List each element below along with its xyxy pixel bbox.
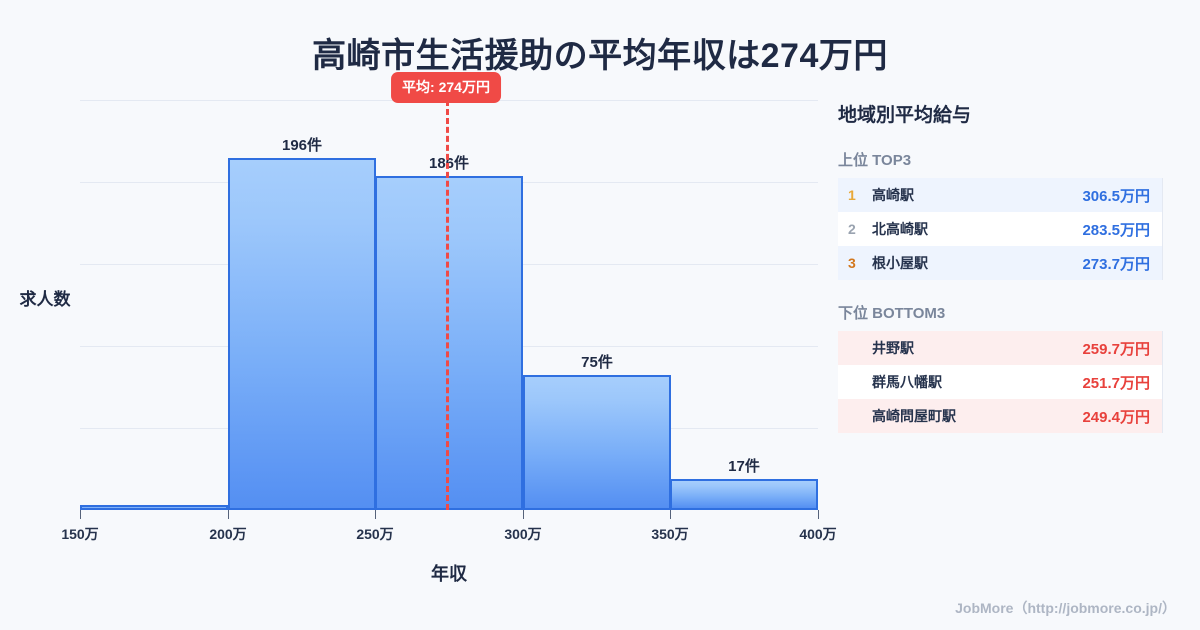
bar [80,505,228,510]
bar-value-label: 196件 [228,134,376,155]
page-title: 高崎市生活援助の平均年収は274万円 [0,28,1200,77]
x-tick [375,510,376,519]
salary-value: 306.5万円 [1082,185,1150,206]
x-axis-title: 年収 [80,560,818,586]
top3-row[interactable]: 2北高崎駅283.5万円 [838,212,1162,246]
x-tick [80,510,81,519]
average-line [446,100,449,510]
bar-value-label: 186件 [375,152,523,173]
station-name: 群馬八幡駅 [868,372,1082,392]
x-tick-label: 300万 [504,524,541,544]
station-name: 北高崎駅 [868,219,1082,239]
salary-value: 283.5万円 [1082,219,1150,240]
rank-number: 3 [848,255,868,271]
station-name: 井野駅 [868,338,1082,358]
station-name: 根小屋駅 [868,253,1082,273]
bar-value-label: 17件 [670,455,818,476]
bottom-group-label: 下位 BOTTOM3 [838,302,1163,323]
footer-watermark: JobMore（http://jobmore.co.jp/） [955,598,1176,618]
infographic-page: 高崎市生活援助の平均年収は274万円 求人数 196件186件75件17件 平均… [0,0,1200,630]
bar-series: 196件186件75件17件 [80,100,818,510]
x-tick-label: 350万 [651,524,688,544]
bar [228,158,376,510]
bar [523,375,671,510]
bottom3-row[interactable]: 井野駅259.7万円 [838,331,1162,365]
rank-number: 2 [848,221,868,237]
x-tick-label: 400万 [799,524,836,544]
x-tick [818,510,819,519]
salary-value: 249.4万円 [1082,406,1150,427]
rank-number: 1 [848,187,868,203]
salary-value: 251.7万円 [1082,372,1150,393]
x-tick [670,510,671,519]
top3-row[interactable]: 1高崎駅306.5万円 [838,178,1162,212]
top3-row[interactable]: 3根小屋駅273.7万円 [838,246,1162,280]
histogram-chart: 求人数 196件186件75件17件 平均: 274万円 150万200万250… [0,90,830,610]
bottom3-row[interactable]: 群馬八幡駅251.7万円 [838,365,1162,399]
x-tick-label: 250万 [356,524,393,544]
x-tick-label: 200万 [209,524,246,544]
sidebar-title: 地域別平均給与 [838,100,1163,127]
top3-list: 1高崎駅306.5万円2北高崎駅283.5万円3根小屋駅273.7万円 [838,178,1163,280]
bar [375,176,523,510]
x-tick [523,510,524,519]
top-group-label: 上位 TOP3 [838,149,1163,170]
station-name: 高崎問屋町駅 [868,406,1082,426]
bar-value-label: 75件 [523,351,671,372]
salary-value: 259.7万円 [1082,338,1150,359]
x-tick-label: 150万 [61,524,98,544]
x-tick [228,510,229,519]
plot-area: 196件186件75件17件 平均: 274万円 150万200万250万300… [80,100,818,510]
y-axis-title: 求人数 [10,285,80,310]
bottom3-row[interactable]: 高崎問屋町駅249.4万円 [838,399,1162,433]
region-salary-panel: 地域別平均給与 上位 TOP3 1高崎駅306.5万円2北高崎駅283.5万円3… [838,100,1163,455]
bottom3-list: 井野駅259.7万円群馬八幡駅251.7万円高崎問屋町駅249.4万円 [838,331,1163,433]
bar [670,479,818,510]
salary-value: 273.7万円 [1082,253,1150,274]
average-badge: 平均: 274万円 [391,72,501,103]
station-name: 高崎駅 [868,185,1082,205]
